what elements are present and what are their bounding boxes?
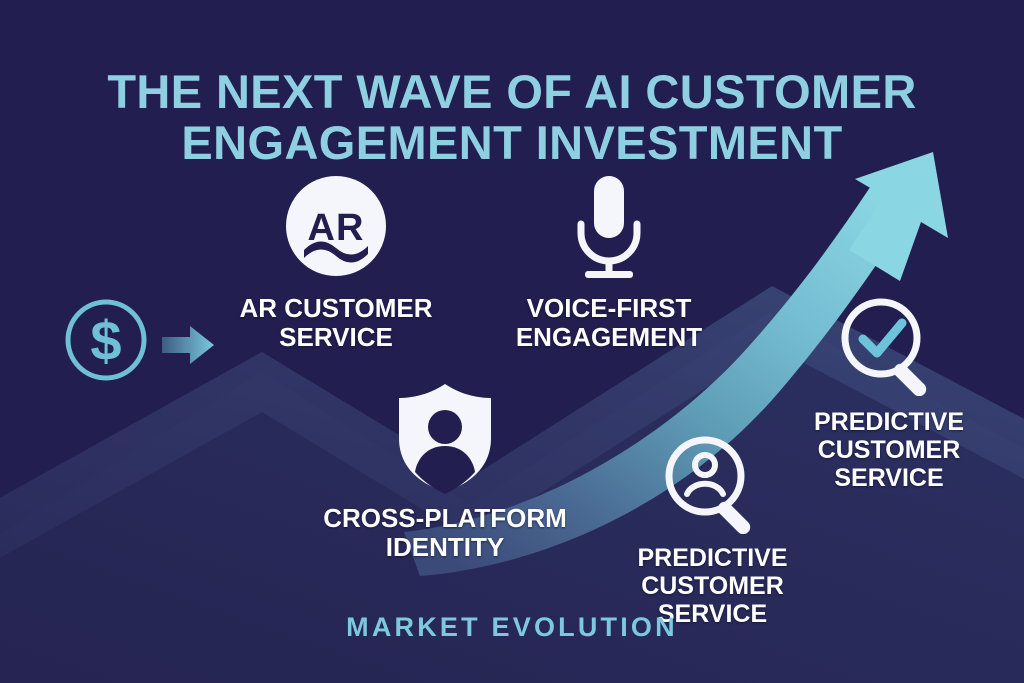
node-small-arrow: [158, 323, 218, 367]
svg-text:AR: AR: [308, 207, 365, 249]
page-title: THE NEXT WAVE OF AI CUSTOMER ENGAGEMENT …: [0, 67, 1024, 169]
node-ar-customer-service: AR AR CUSTOMER SERVICE: [220, 170, 452, 352]
infographic-canvas: THE NEXT WAVE OF AI CUSTOMER ENGAGEMENT …: [0, 0, 1024, 683]
shield-person-icon: [393, 382, 497, 494]
microphone-icon: [567, 172, 651, 282]
magnifier-check-icon: [837, 294, 941, 396]
magnifier-person-icon: [661, 432, 765, 534]
market-evolution-caption: MARKET EVOLUTION: [0, 612, 1024, 643]
node-cross-platform-identity: CROSS-PLATFORM IDENTITY: [316, 382, 574, 562]
svg-text:$: $: [90, 309, 121, 372]
title-line-2: ENGAGEMENT INVESTMENT: [0, 118, 1024, 169]
title-line-1: THE NEXT WAVE OF AI CUSTOMER: [0, 67, 1024, 118]
node-label: PREDICTIVE CUSTOMER SERVICE: [782, 408, 996, 492]
node-money: $: [50, 294, 162, 386]
node-voice-first-engagement: VOICE-FIRST ENGAGEMENT: [500, 172, 718, 352]
node-label: CROSS-PLATFORM IDENTITY: [316, 504, 574, 562]
node-label: AR CUSTOMER SERVICE: [220, 294, 452, 352]
node-label: VOICE-FIRST ENGAGEMENT: [500, 294, 718, 352]
ar-headset-icon: AR: [280, 170, 392, 282]
arrow-right-icon: [160, 323, 216, 367]
dollar-circle-icon: $: [60, 294, 152, 386]
node-predictive-customer-service-2: PREDICTIVE CUSTOMER SERVICE: [782, 294, 996, 492]
